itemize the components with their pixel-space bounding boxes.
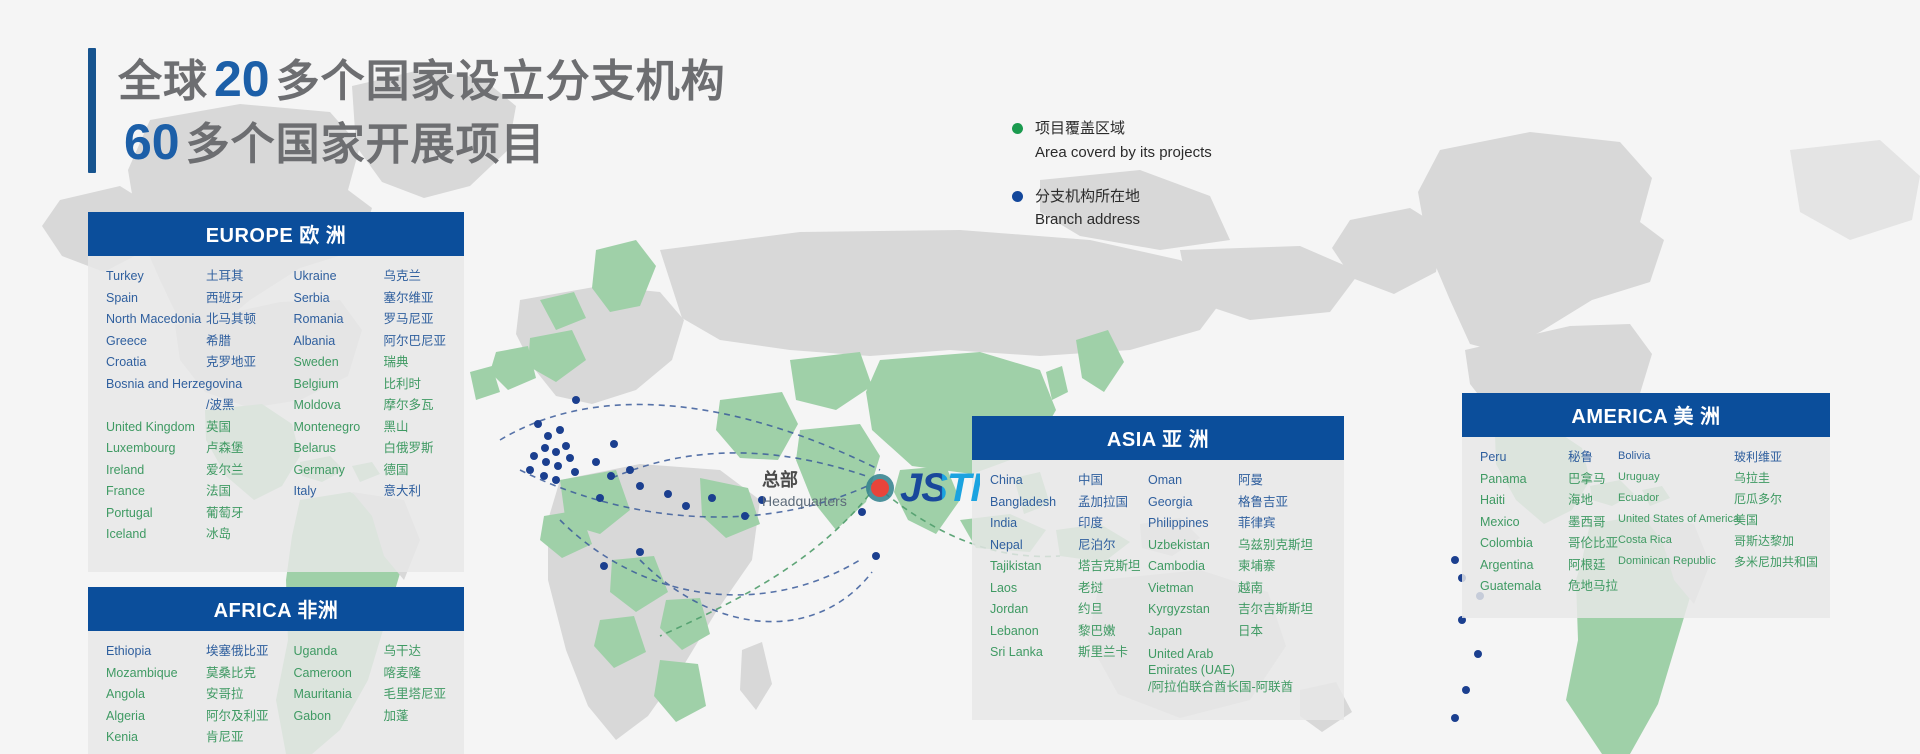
branch-marker-dot [562, 442, 570, 450]
country-row: Peru秘鲁 [1480, 451, 1618, 464]
country-name-en: Italy [293, 485, 383, 498]
country-name-cn: 日本 [1238, 625, 1263, 638]
country-name-cn: 西班牙 [206, 292, 244, 305]
country-name-en: Argentina [1480, 559, 1568, 572]
country-name-cn: 加蓬 [383, 710, 408, 723]
country-name-en: Ukraine [293, 270, 383, 283]
country-name-en: Kenia [106, 731, 206, 744]
country-name-en: Vietman [1148, 582, 1238, 595]
branch-marker-dot [592, 458, 600, 466]
panel-africa-col-left: Ethiopia埃塞俄比亚Mozambique莫桑比克Angola安哥拉Alge… [106, 645, 293, 753]
country-row: Haiti海地 [1480, 494, 1618, 507]
legend-item-projects: 项目覆盖区域 Area coverd by its projects [1012, 118, 1212, 164]
country-name-en: Iceland [106, 528, 206, 541]
country-row: Jordan约旦 [990, 603, 1148, 616]
panel-europe-title: EUROPE 欧 洲 [88, 212, 464, 256]
country-row: Germany德国 [293, 464, 446, 477]
title-accent-bar [88, 48, 96, 173]
country-name-en: India [990, 517, 1078, 530]
branch-marker-dot [540, 472, 548, 480]
country-name-en: Bolivia [1618, 451, 1734, 463]
country-name-en: Panama [1480, 473, 1568, 486]
branch-marker-dot [610, 440, 618, 448]
branch-marker-dot [626, 466, 634, 474]
country-name-en: Greece [106, 335, 206, 348]
country-row: China中国 [990, 474, 1148, 487]
country-row: Iceland冰岛 [106, 528, 293, 541]
country-name-en: Ethiopia [106, 645, 206, 658]
country-row: Oman阿曼 [1148, 474, 1313, 487]
country-name-en: Costa Rica [1618, 535, 1734, 547]
country-name-cn: 塞尔维亚 [383, 292, 433, 305]
country-row: Moldova摩尔多瓦 [293, 399, 446, 412]
country-row: Bolivia玻利维亚 [1618, 451, 1818, 463]
map-legend: 项目覆盖区域 Area coverd by its projects 分支机构所… [1012, 118, 1212, 254]
country-row: Cameroon喀麦隆 [293, 667, 446, 680]
country-row: Portugal葡萄牙 [106, 507, 293, 520]
country-row: Montenegro黑山 [293, 421, 446, 434]
country-row: Tajikistan塔吉克斯坦 [990, 560, 1148, 573]
country-name-cn: 爱尔兰 [206, 464, 244, 477]
branch-marker-dot [1451, 714, 1459, 722]
country-name-cn: 斯里兰卡 [1078, 646, 1128, 659]
country-row: Mauritania毛里塔尼亚 [293, 688, 446, 701]
country-row: Costa Rica哥斯达黎加 [1618, 535, 1818, 547]
country-name-en: United States of America [1618, 514, 1734, 526]
country-row: Albania阿尔巴尼亚 [293, 335, 446, 348]
country-name-en: France [106, 485, 206, 498]
country-name-cn: 阿根廷 [1568, 559, 1606, 572]
country-name-cn: 意大利 [383, 485, 421, 498]
country-row: Angola安哥拉 [106, 688, 293, 701]
branch-marker-dot [544, 432, 552, 440]
country-name-en: Bangladesh [990, 496, 1078, 509]
country-name-en: Uzbekistan [1148, 539, 1238, 552]
country-name-en: United Kingdom [106, 421, 206, 434]
country-name-en: Sri Lanka [990, 646, 1078, 659]
country-row: Belarus白俄罗斯 [293, 442, 446, 455]
country-row: France法国 [106, 485, 293, 498]
country-name-cn: 巴拿马 [1568, 473, 1606, 486]
country-name-cn: 希腊 [206, 335, 231, 348]
country-name-cn: 哥斯达黎加 [1734, 535, 1794, 547]
headline-line-1: 全球20多个国家设立分支机构 [118, 48, 726, 111]
country-name-cn: 厄瓜多尔 [1734, 493, 1782, 505]
country-row: Ireland爱尔兰 [106, 464, 293, 477]
branch-marker-dot [858, 508, 866, 516]
branch-marker-dot [556, 426, 564, 434]
legend-item-branches: 分支机构所在地 Branch address [1012, 186, 1212, 232]
jsti-logo-text: JSTI [900, 466, 980, 510]
country-name-en: Guatemala [1480, 580, 1568, 593]
country-name-en: Haiti [1480, 494, 1568, 507]
country-name-cn: 北马其顿 [206, 313, 256, 326]
country-name-cn: /阿拉伯联合酋长国-阿联酋 [1148, 679, 1313, 695]
country-name-cn: 孟加拉国 [1078, 496, 1128, 509]
blue-dot-icon [1012, 191, 1023, 202]
country-name-en: Dominican Republic [1618, 556, 1734, 568]
country-name-cn: 玻利维亚 [1734, 451, 1782, 463]
panel-africa-title: AFRICA 非洲 [88, 587, 464, 631]
branch-marker-dot [541, 444, 549, 452]
country-row: United States of America美国 [1618, 514, 1818, 526]
country-row: United Kingdom英国 [106, 421, 293, 434]
country-name-cn: 白俄罗斯 [383, 442, 433, 455]
country-name-cn: 阿尔巴尼亚 [383, 335, 446, 348]
infographic-canvas: 全球20多个国家设立分支机构 60多个国家开展项目 项目覆盖区域 Area co… [0, 0, 1920, 754]
country-name-cn: 乌拉圭 [1734, 472, 1770, 484]
country-name-cn: 摩尔多瓦 [383, 399, 433, 412]
country-name-en: Luxembourg [106, 442, 206, 455]
country-row: Bosnia and Herzegovina [106, 378, 293, 391]
legend-branches-en: Branch address [1035, 208, 1140, 231]
country-name-en: Cameroon [293, 667, 383, 680]
country-name-en: Moldova [293, 399, 383, 412]
country-name-cn: 卢森堡 [206, 442, 244, 455]
country-row: Lebanon黎巴嫩 [990, 625, 1148, 638]
branch-marker-dot [872, 552, 880, 560]
country-name-cn: 葡萄牙 [206, 507, 244, 520]
country-name-cn: 埃塞俄比亚 [206, 645, 269, 658]
country-name-en: Bosnia and Herzegovina [106, 378, 206, 391]
country-name-en: Philippines [1148, 517, 1238, 530]
headline-line2-suffix: 多个国家开展项目 [186, 120, 546, 169]
branch-marker-dot [566, 454, 574, 462]
panel-europe: EUROPE 欧 洲 Turkey土耳其Spain西班牙North Macedo… [88, 212, 464, 572]
country-name-cn: 美国 [1734, 514, 1758, 526]
country-name-cn: 乌干达 [383, 645, 421, 658]
panel-europe-col-left: Turkey土耳其Spain西班牙North Macedonia北马其顿Gree… [106, 270, 293, 550]
country-name-cn: 喀麦隆 [383, 667, 421, 680]
country-name-en: Belgium [293, 378, 383, 391]
branch-marker-dot [534, 420, 542, 428]
country-name-cn: 安哥拉 [206, 688, 244, 701]
country-row: Uganda乌干达 [293, 645, 446, 658]
country-name-cn: 格鲁吉亚 [1238, 496, 1288, 509]
headline-line1-prefix: 全球 [118, 57, 208, 106]
country-name-en: Gabon [293, 710, 383, 723]
country-name-cn: 瑞典 [383, 356, 408, 369]
country-name-cn: 菲律宾 [1238, 517, 1276, 530]
branch-marker-dot [682, 502, 690, 510]
country-name-en: Uruguay [1618, 472, 1734, 484]
country-name-cn: 毛里塔尼亚 [383, 688, 446, 701]
country-name-en: Lebanon [990, 625, 1078, 638]
panel-asia-col-left: China中国Bangladesh孟加拉国India印度Nepal尼泊尔Taji… [990, 474, 1148, 704]
country-name-en: Cambodia [1148, 560, 1238, 573]
country-name-cn: 克罗地亚 [206, 356, 256, 369]
country-name-en: Albania [293, 335, 383, 348]
headquarters-label: 总部 Headquarters [762, 469, 847, 510]
country-name-en: Kyrgyzstan [1148, 603, 1238, 616]
country-row: Algeria阿尔及利亚 [106, 710, 293, 723]
country-name-en: Algeria [106, 710, 206, 723]
country-name-cn: 黎巴嫩 [1078, 625, 1116, 638]
country-row: Ethiopia埃塞俄比亚 [106, 645, 293, 658]
country-name-cn: 多米尼加共和国 [1734, 556, 1818, 568]
country-name-en: Germany [293, 464, 383, 477]
country-row: Dominican Republic多米尼加共和国 [1618, 556, 1818, 568]
country-row: Bangladesh孟加拉国 [990, 496, 1148, 509]
branch-marker-dot [741, 512, 749, 520]
branch-marker-dot [571, 468, 579, 476]
country-row: Kyrgyzstan吉尔吉斯斯坦 [1148, 603, 1313, 616]
country-name-en: Mozambique [106, 667, 206, 680]
legend-branches-cn: 分支机构所在地 [1035, 186, 1140, 209]
country-row: Colombia哥伦比亚 [1480, 537, 1618, 550]
country-name-cn: 罗马尼亚 [383, 313, 433, 326]
country-row: Uruguay乌拉圭 [1618, 472, 1818, 484]
country-row: Nepal尼泊尔 [990, 539, 1148, 552]
country-row: Turkey土耳其 [106, 270, 293, 283]
branch-marker-dot [530, 452, 538, 460]
country-row: Philippines菲律宾 [1148, 517, 1313, 530]
country-name-cn: 阿尔及利亚 [206, 710, 269, 723]
country-row: Romania罗马尼亚 [293, 313, 446, 326]
country-name-cn: 秘鲁 [1568, 451, 1593, 464]
country-row: Italy意大利 [293, 485, 446, 498]
country-name-en: Ecuador [1618, 493, 1734, 505]
branch-marker-dot [636, 548, 644, 556]
country-name-en: China [990, 474, 1078, 487]
branch-marker-dot [526, 466, 534, 474]
branch-marker-dot [542, 458, 550, 466]
country-name-cn: 肯尼亚 [206, 731, 244, 744]
country-row: Serbia塞尔维亚 [293, 292, 446, 305]
country-name-en: Spain [106, 292, 206, 305]
country-name-en: Turkey [106, 270, 206, 283]
country-name-en: Portugal [106, 507, 206, 520]
branch-marker-dot [607, 472, 615, 480]
panel-america-col-right: Bolivia玻利维亚Uruguay乌拉圭Ecuador厄瓜多尔United S… [1618, 451, 1818, 602]
country-name-en: Oman [1148, 474, 1238, 487]
branch-marker-dot [1474, 650, 1482, 658]
branch-marker-dot [636, 482, 644, 490]
country-name-cn: 黑山 [383, 421, 408, 434]
country-row: Argentina阿根廷 [1480, 559, 1618, 572]
headquarters-label-cn: 总部 [762, 469, 847, 492]
country-name-cn: 比利时 [383, 378, 421, 391]
branch-marker-dot [1451, 556, 1459, 564]
country-name-cn: 印度 [1078, 517, 1103, 530]
country-name-cn: 阿曼 [1238, 474, 1263, 487]
country-name-cn: 英国 [206, 421, 231, 434]
country-name-cn: /波黑 [206, 399, 234, 412]
country-name-cn: 土耳其 [206, 270, 244, 283]
country-row: India印度 [990, 517, 1148, 530]
headline-line1-suffix: 多个国家设立分支机构 [276, 57, 726, 106]
country-row: Cambodia柬埔寨 [1148, 560, 1313, 573]
branch-marker-dot [708, 494, 716, 502]
country-name-en: Colombia [1480, 537, 1568, 550]
country-name-cn: 吉尔吉斯斯坦 [1238, 603, 1313, 616]
country-row: Uzbekistan乌兹别克斯坦 [1148, 539, 1313, 552]
country-row: Laos老挝 [990, 582, 1148, 595]
country-row: Luxembourg卢森堡 [106, 442, 293, 455]
country-row: North Macedonia北马其顿 [106, 313, 293, 326]
country-name-cn: 尼泊尔 [1078, 539, 1116, 552]
country-name-en: Jordan [990, 603, 1078, 616]
jsti-logo: JSTI [900, 468, 980, 508]
country-row: Greece希腊 [106, 335, 293, 348]
branch-marker-dot [1462, 686, 1470, 694]
country-name-en: Tajikistan [990, 560, 1078, 573]
country-name-cn: 约旦 [1078, 603, 1103, 616]
branch-marker-dot [552, 448, 560, 456]
country-name-en: Uganda [293, 645, 383, 658]
panel-europe-col-right: Ukraine乌克兰Serbia塞尔维亚Romania罗马尼亚Albania阿尔… [293, 270, 446, 550]
country-name-cn: 乌克兰 [383, 270, 421, 283]
page-title: 全球20多个国家设立分支机构 60多个国家开展项目 [88, 48, 726, 173]
green-dot-icon [1012, 123, 1023, 134]
country-name-cn: 法国 [206, 485, 231, 498]
country-name-en: United Arab Emirates (UAE) [1148, 646, 1238, 679]
country-name-en: Romania [293, 313, 383, 326]
legend-projects-cn: 项目覆盖区域 [1035, 118, 1212, 141]
panel-africa-col-right: Uganda乌干达Cameroon喀麦隆Mauritania毛里塔尼亚Gabon… [293, 645, 446, 753]
headquarters-marker-icon [865, 473, 895, 508]
country-name-en: Ireland [106, 464, 206, 477]
country-name-cn: 墨西哥 [1568, 516, 1606, 529]
country-row: Ukraine乌克兰 [293, 270, 446, 283]
country-row: /波黑 [106, 399, 293, 412]
headline-line-2: 60多个国家开展项目 [118, 111, 726, 174]
country-name-en: Angola [106, 688, 206, 701]
panel-africa: AFRICA 非洲 Ethiopia埃塞俄比亚Mozambique莫桑比克Ang… [88, 587, 464, 754]
country-name-en: Belarus [293, 442, 383, 455]
panel-america: AMERICA 美 洲 Peru秘鲁Panama巴拿马Haiti海地Mexico… [1462, 393, 1830, 618]
country-name-cn: 乌兹别克斯坦 [1238, 539, 1313, 552]
country-row: Belgium比利时 [293, 378, 446, 391]
legend-projects-en: Area coverd by its projects [1035, 141, 1212, 164]
country-row: Japan日本 [1148, 625, 1313, 638]
country-name-en: Georgia [1148, 496, 1238, 509]
country-name-cn: 危地马拉 [1568, 580, 1618, 593]
country-name-cn: 塔吉克斯坦 [1078, 560, 1141, 573]
branch-marker-dot [664, 490, 672, 498]
country-name-cn: 哥伦比亚 [1568, 537, 1618, 550]
country-row: Sri Lanka斯里兰卡 [990, 646, 1148, 659]
country-name-en: Serbia [293, 292, 383, 305]
country-name-cn: 越南 [1238, 582, 1263, 595]
country-name-cn: 中国 [1078, 474, 1103, 487]
country-name-en [106, 399, 206, 412]
country-name-en: Sweden [293, 356, 383, 369]
country-row: Ecuador厄瓜多尔 [1618, 493, 1818, 505]
country-name-cn: 莫桑比克 [206, 667, 256, 680]
branch-marker-dot [600, 562, 608, 570]
country-name-en: Montenegro [293, 421, 383, 434]
country-row: Guatemala危地马拉 [1480, 580, 1618, 593]
country-name-en: North Macedonia [106, 313, 206, 326]
country-row: Vietman越南 [1148, 582, 1313, 595]
country-row: United Arab Emirates (UAE)/阿拉伯联合酋长国-阿联酋 [1148, 646, 1313, 695]
branch-marker-dot [596, 494, 604, 502]
branch-marker-dot [552, 476, 560, 484]
country-name-en: Peru [1480, 451, 1568, 464]
country-name-cn: 老挝 [1078, 582, 1103, 595]
country-name-cn: 德国 [383, 464, 408, 477]
headquarters-label-en: Headquarters [762, 492, 847, 510]
country-row: Spain西班牙 [106, 292, 293, 305]
country-row: Georgia格鲁吉亚 [1148, 496, 1313, 509]
branch-marker-dot [572, 396, 580, 404]
country-name-cn: 海地 [1568, 494, 1593, 507]
country-row: Gabon加蓬 [293, 710, 446, 723]
panel-asia: ASIA 亚 洲 China中国Bangladesh孟加拉国India印度Nep… [972, 416, 1344, 720]
country-row: Sweden瑞典 [293, 356, 446, 369]
country-row: Mexico墨西哥 [1480, 516, 1618, 529]
country-row: Kenia肯尼亚 [106, 731, 293, 744]
country-row: Panama巴拿马 [1480, 473, 1618, 486]
panel-asia-col-right: Oman阿曼Georgia格鲁吉亚Philippines菲律宾Uzbekista… [1148, 474, 1313, 704]
headline-number-20: 20 [208, 51, 276, 107]
country-name-en: Nepal [990, 539, 1078, 552]
country-row: Mozambique莫桑比克 [106, 667, 293, 680]
country-name-cn: 柬埔寨 [1238, 560, 1276, 573]
country-name-en: Laos [990, 582, 1078, 595]
branch-marker-dot [554, 462, 562, 470]
country-name-en: Mauritania [293, 688, 383, 701]
panel-america-col-left: Peru秘鲁Panama巴拿马Haiti海地Mexico墨西哥Colombia哥… [1480, 451, 1618, 602]
country-name-en: Japan [1148, 625, 1238, 638]
panel-america-title: AMERICA 美 洲 [1462, 393, 1830, 437]
panel-asia-title: ASIA 亚 洲 [972, 416, 1344, 460]
country-name-en: Croatia [106, 356, 206, 369]
headline-number-60: 60 [118, 114, 186, 170]
country-name-cn: 冰岛 [206, 528, 231, 541]
country-name-en: Mexico [1480, 516, 1568, 529]
country-row: Croatia克罗地亚 [106, 356, 293, 369]
